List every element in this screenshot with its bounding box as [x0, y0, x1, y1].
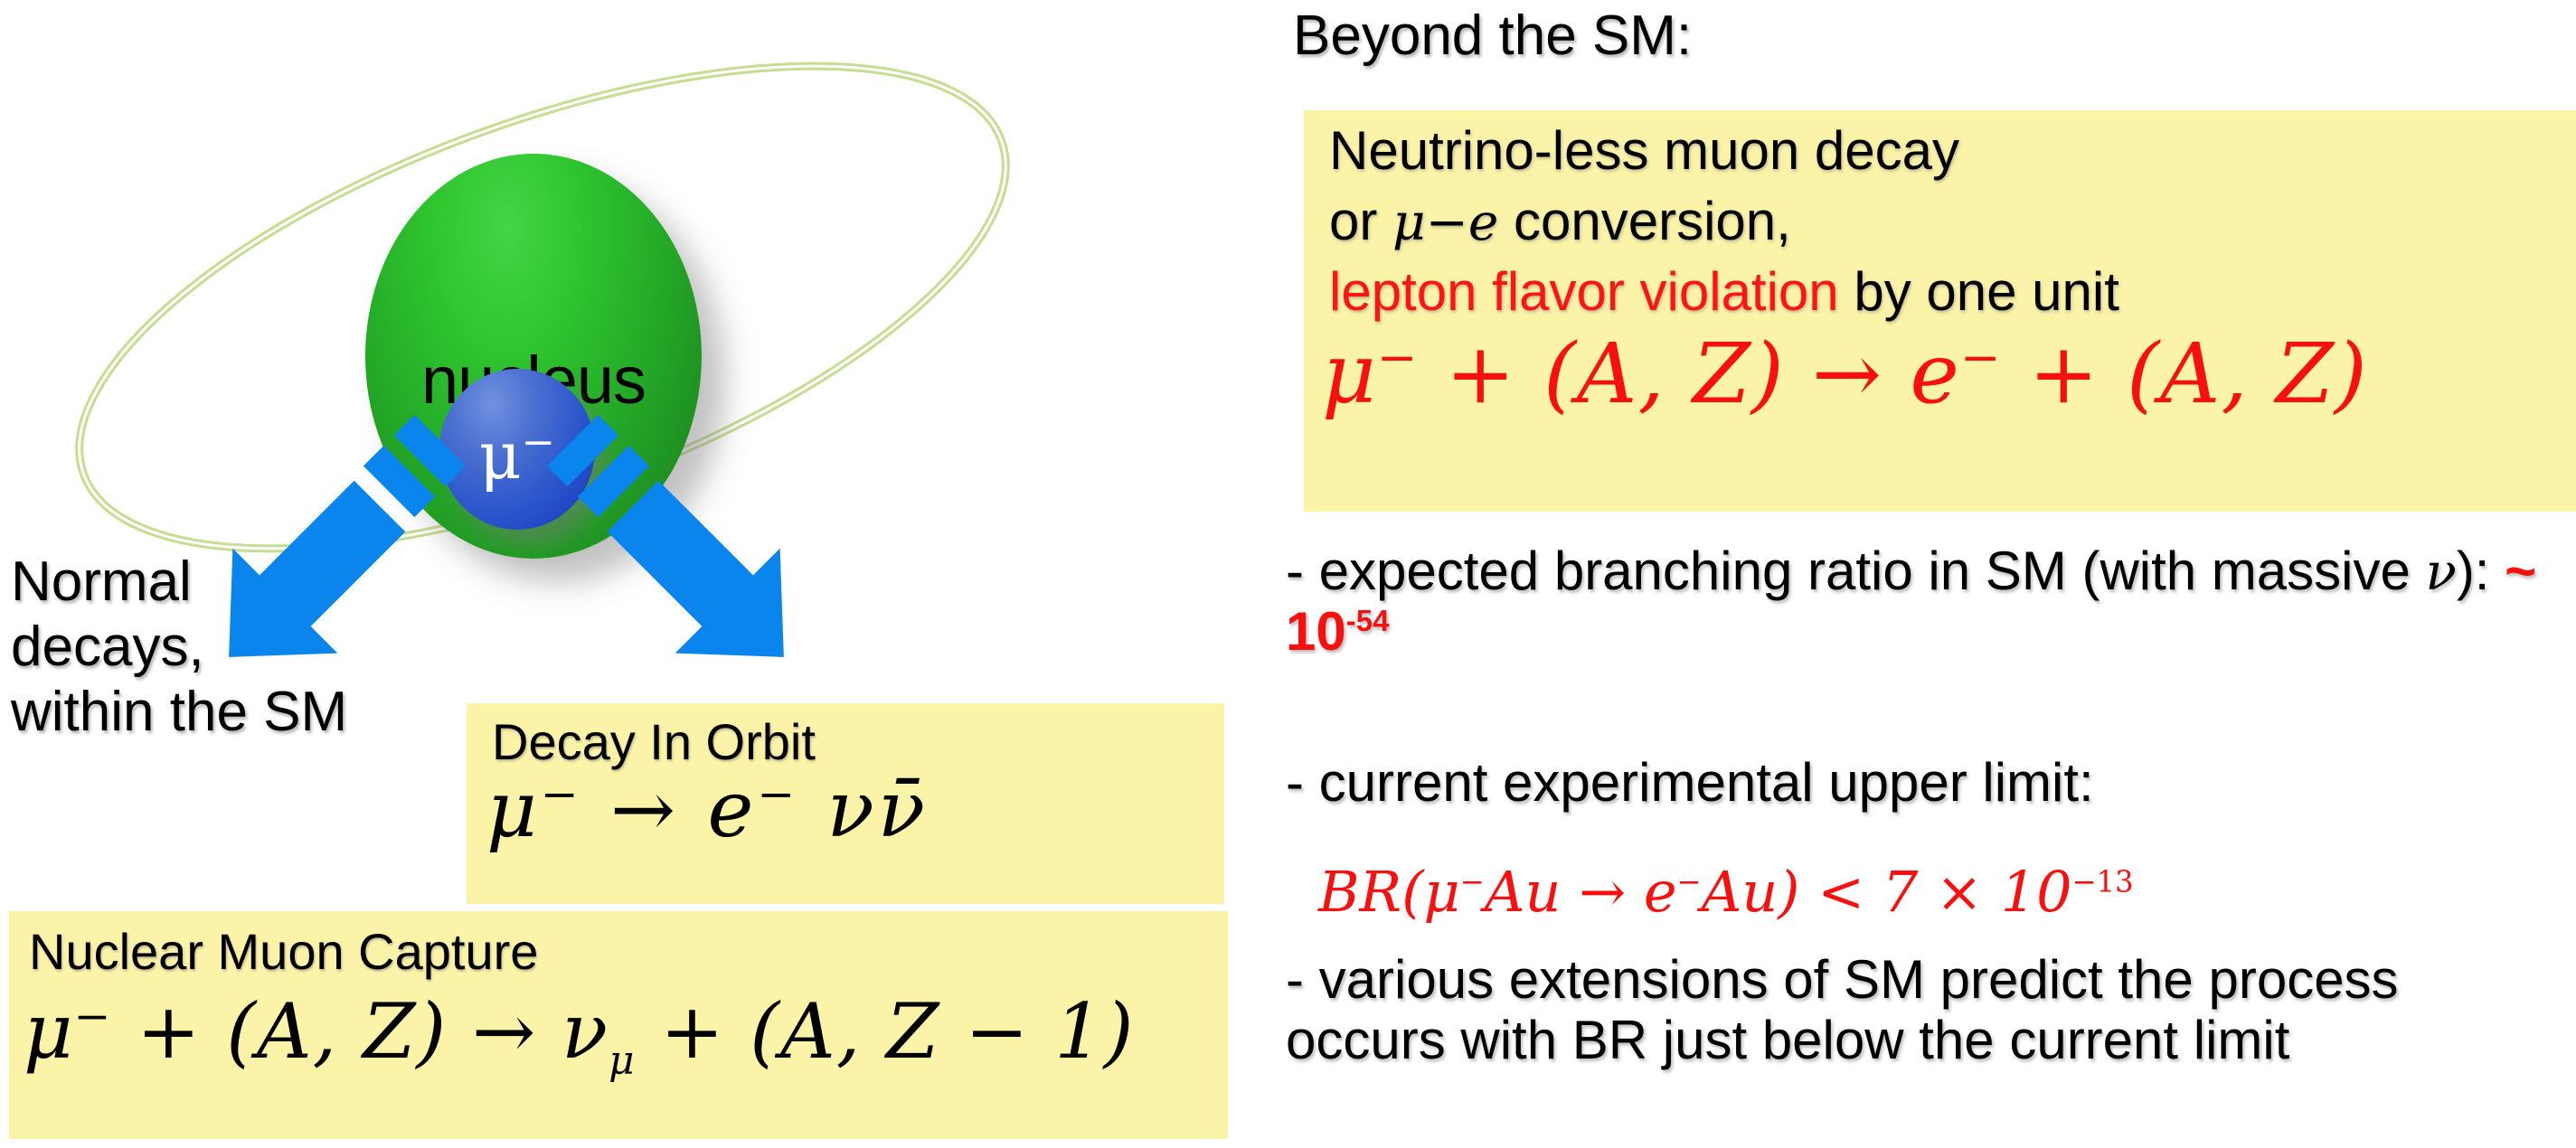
- bsm-line2-pre: or: [1329, 191, 1392, 251]
- nuclear-muon-capture-equation: μ− + (A, Z) → νμ + (A, Z − 1): [24, 987, 1135, 1084]
- bullet1-exponent: -54: [1346, 604, 1390, 637]
- decay-in-orbit-title: Decay In Orbit: [492, 712, 816, 771]
- arrow-right-tail-stripes: [547, 415, 649, 517]
- decay-in-orbit-box: Decay In Orbit μ− → e− νν̄: [467, 703, 1224, 904]
- mu-e-symbol: μ−e: [1392, 193, 1498, 252]
- bullet-upper-limit: - current experimental upper limit:: [1286, 752, 2570, 813]
- bullet1-post: ):: [2457, 541, 2505, 601]
- bullet-expected-br: - expected branching ratio in SM (with m…: [1286, 541, 2570, 662]
- normal-decays-line2: decays,: [11, 616, 204, 678]
- right-column: Beyond the SM: Neutrino-less muon decay …: [1280, 0, 2576, 1148]
- bsm-line-2: or μ−e conversion,: [1329, 190, 1791, 252]
- normal-decays-label: Normaldecays,within the SM: [11, 550, 436, 745]
- atom-diagram: nucleus μ−: [0, 0, 1266, 579]
- lepton-flavor-violation-text: lepton flavor violation: [1329, 261, 1839, 322]
- bullet1-pre: - expected branching ratio in SM (with m…: [1286, 541, 2426, 601]
- nu-symbol: ν: [2426, 543, 2457, 602]
- conversion-equation: μ− + (A, Z) → e− + (A, Z): [1322, 325, 2368, 422]
- normal-decays-line1: Normal: [11, 550, 192, 613]
- upper-limit-equation: BR(μ−Au → e−Au) < 7 × 10−13: [1318, 859, 2134, 925]
- bsm-line-1: Neutrino-less muon decay: [1329, 119, 1959, 182]
- decay-in-orbit-equation: μ− → e− νν̄: [486, 765, 929, 855]
- bsm-line3-black: by one unit: [1839, 261, 2119, 322]
- beyond-sm-heading: Beyond the SM:: [1293, 4, 1692, 68]
- bullet-extensions: - various extensions of SM predict the p…: [1286, 949, 2570, 1070]
- bsm-line2-post: conversion,: [1498, 191, 1791, 251]
- normal-decays-line3: within the SM: [11, 681, 347, 743]
- nuclear-muon-capture-box: Nuclear Muon Capture μ− + (A, Z) → νμ + …: [9, 911, 1228, 1139]
- bsm-line-3: lepton flavor violation by one unit: [1329, 260, 2119, 323]
- nuclear-muon-capture-title: Nuclear Muon Capture: [29, 922, 538, 981]
- arrow-left-tail-stripes: [363, 415, 466, 517]
- beyond-sm-box: Neutrino-less muon decay or μ−e conversi…: [1304, 110, 2576, 512]
- decay-arrows: [0, 0, 1266, 579]
